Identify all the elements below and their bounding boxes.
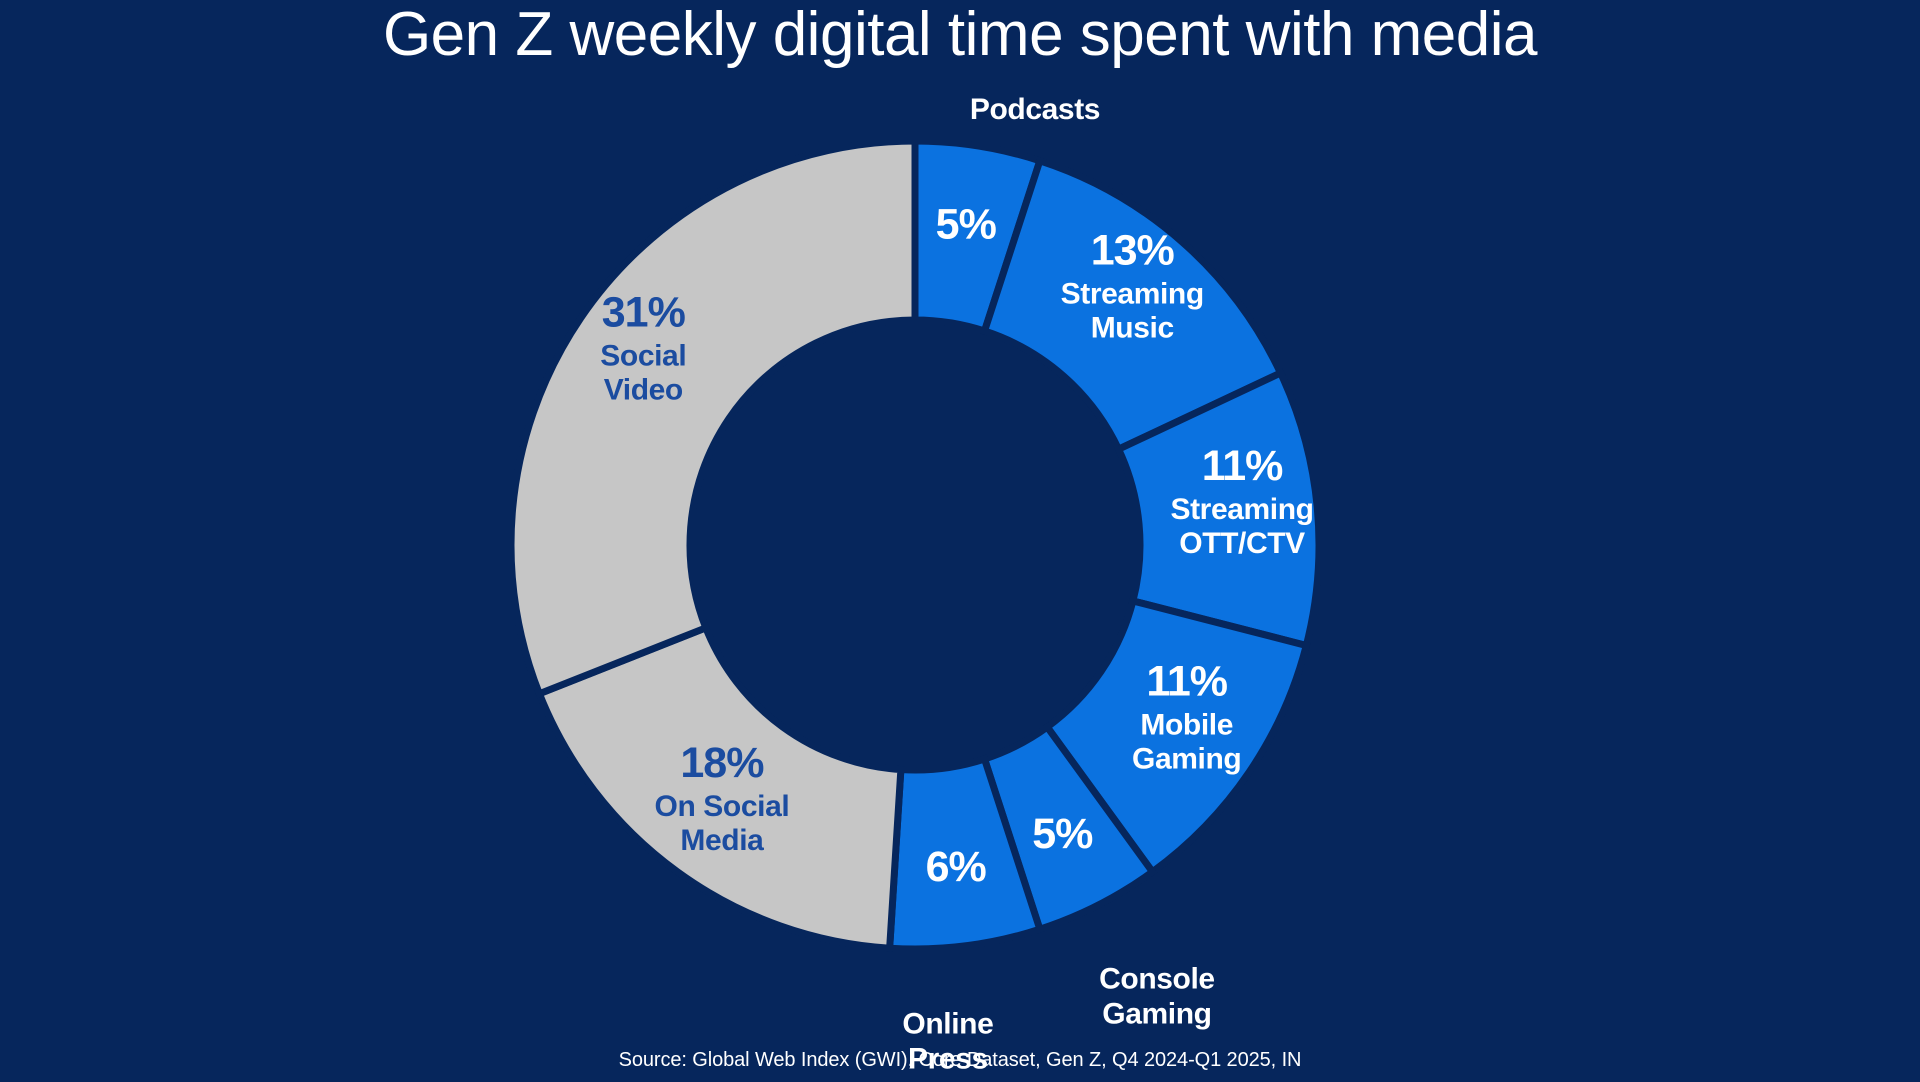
slice-category-label: Social	[600, 339, 686, 372]
donut-svg: 5%13%StreamingMusic11%StreamingOTT/CTV11…	[0, 0, 1920, 1082]
slice-percent-label: 11%	[1146, 658, 1227, 706]
donut-slice[interactable]	[511, 141, 915, 694]
slice-category-label: Media	[680, 824, 764, 857]
slice-outside-label: Online	[902, 1007, 993, 1040]
slice-percent-label: 5%	[936, 200, 997, 248]
chart-canvas: Gen Z weekly digital time spent with med…	[0, 0, 1920, 1082]
slice-category-label: Streaming	[1061, 278, 1204, 311]
slice-category-label: Gaming	[1132, 743, 1241, 776]
slice-percent-label: 13%	[1091, 227, 1175, 275]
slice-category-label: Music	[1091, 312, 1174, 345]
slice-percent-label: 31%	[602, 288, 686, 336]
slice-percent-label: 6%	[926, 843, 987, 891]
slice-percent-label: 18%	[680, 739, 764, 787]
source-note: Source: Global Web Index (GWI), Core Dat…	[0, 1049, 1920, 1072]
slice-outside-label: Console	[1099, 963, 1215, 996]
slice-category-label: On Social	[655, 790, 790, 823]
slice-category-label: Mobile	[1140, 709, 1233, 742]
slice-percent-label: 5%	[1032, 810, 1093, 858]
slice-outside-label: Gaming	[1102, 998, 1211, 1031]
donut-chart: 5%13%StreamingMusic11%StreamingOTT/CTV11…	[0, 0, 1920, 1082]
slice-outside-label: Podcasts	[970, 93, 1100, 126]
slice-percent-label: 11%	[1202, 442, 1283, 490]
slice-category-label: Video	[604, 373, 683, 406]
slice-category-label: OTT/CTV	[1179, 527, 1305, 560]
slice-category-label: Streaming	[1170, 493, 1313, 526]
